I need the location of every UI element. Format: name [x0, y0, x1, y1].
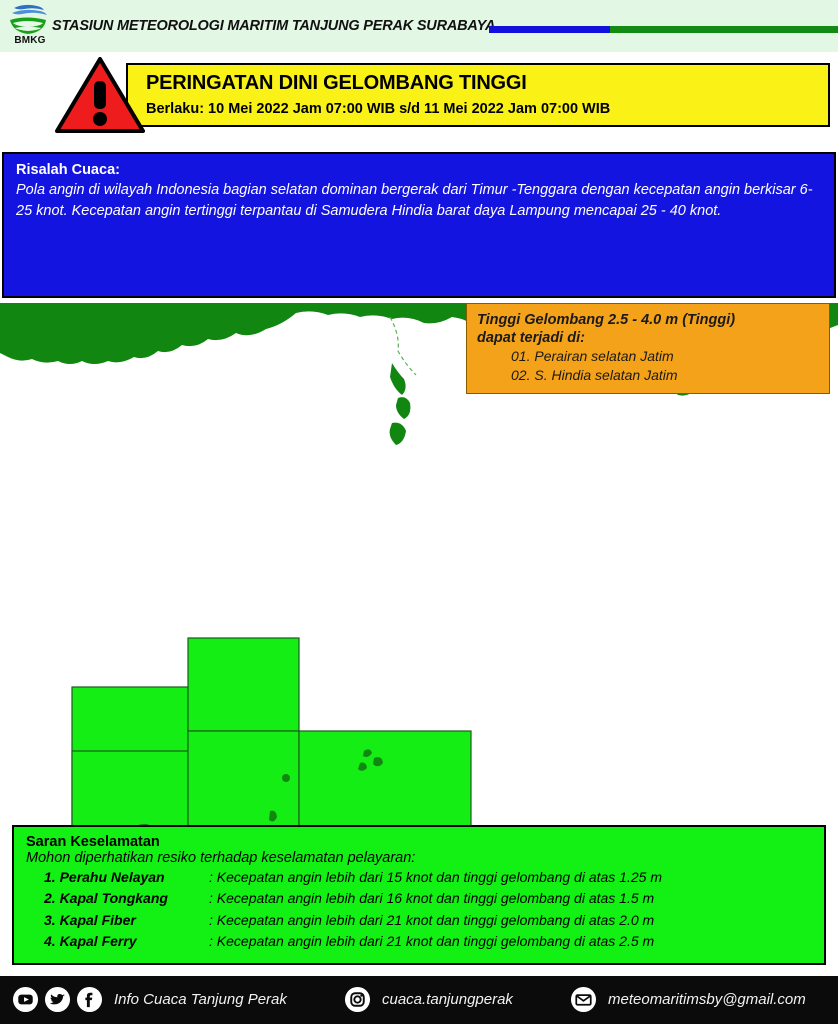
weather-summary-text: Pola angin di wilayah Indonesia bagian s… [16, 180, 822, 221]
footer-bar: Info Cuaca Tanjung Perak cuaca.tanjungpe… [0, 976, 838, 1024]
vessel-criteria: : Kecepatan angin lebih dari 15 knot dan… [209, 867, 662, 888]
legend-heading-line2: dapat terjadi di: [477, 329, 819, 347]
vessel-label: 1. Perahu Nelayan [44, 867, 209, 888]
weather-summary-heading: Risalah Cuaca: [16, 162, 822, 178]
vessel-criteria: : Kecepatan angin lebih dari 16 knot dan… [209, 888, 654, 909]
safety-advice-row: 1. Perahu Nelayan : Kecepatan angin lebi… [26, 867, 812, 888]
vessel-label: 3. Kapal Fiber [44, 910, 209, 931]
wave-height-legend: Tinggi Gelombang 2.5 - 4.0 m (Tinggi) da… [466, 303, 830, 394]
safety-advice-row: 4. Kapal Ferry : Kecepatan angin lebih d… [26, 931, 812, 952]
safety-advice-box: Saran Keselamatan Mohon diperhatikan res… [12, 825, 826, 965]
warning-banner: PERINGATAN DINI GELOMBANG TINGGI Berlaku… [126, 63, 830, 127]
instagram-icon[interactable] [344, 986, 371, 1013]
footer-instagram-handle: cuaca.tanjungperak [382, 991, 513, 1008]
legend-heading-line1: Tinggi Gelombang 2.5 - 4.0 m (Tinggi) [477, 311, 819, 329]
footer-email-group: meteomaritimsby@gmail.com [570, 986, 806, 1013]
legend-item-0: 01. Perairan selatan Jatim [511, 347, 819, 366]
warning-infographic: BMKG STASIUN METEOROLOGI MARITIM TANJUNG… [0, 0, 838, 1024]
vessel-label: 2. Kapal Tongkang [44, 888, 209, 909]
safety-advice-heading: Saran Keselamatan [26, 834, 812, 850]
safety-advice-row: 3. Kapal Fiber : Kecepatan angin lebih d… [26, 910, 812, 931]
bmkg-logo: BMKG [6, 2, 50, 50]
bmkg-logo-icon [6, 2, 50, 38]
vessel-criteria: : Kecepatan angin lebih dari 21 knot dan… [209, 931, 654, 952]
email-icon[interactable] [570, 986, 597, 1013]
footer-instagram-group: cuaca.tanjungperak [344, 986, 513, 1013]
header-accent-bar-blue [489, 26, 610, 33]
warning-title: PERINGATAN DINI GELOMBANG TINGGI [146, 72, 527, 95]
footer-social-handle: Info Cuaca Tanjung Perak [114, 991, 287, 1008]
warning-triangle-icon [55, 57, 145, 135]
vessel-label: 4. Kapal Ferry [44, 931, 209, 952]
safety-advice-subheading: Mohon diperhatikan resiko terhadap kesel… [26, 850, 812, 866]
footer-email: meteomaritimsby@gmail.com [608, 991, 806, 1008]
vessel-criteria: : Kecepatan angin lebih dari 21 knot dan… [209, 910, 654, 931]
header-accent-bar-green [610, 26, 838, 33]
header-title: STASIUN METEOROLOGI MARITIM TANJUNG PERA… [52, 18, 495, 34]
bmkg-logo-label: BMKG [8, 35, 52, 46]
weather-summary-box: Risalah Cuaca: Pola angin di wilayah Ind… [2, 152, 836, 298]
twitter-icon[interactable] [44, 986, 71, 1013]
footer-social-group: Info Cuaca Tanjung Perak [12, 986, 287, 1013]
youtube-icon[interactable] [12, 986, 39, 1013]
legend-item-1: 02. S. Hindia selatan Jatim [511, 366, 819, 385]
facebook-icon[interactable] [76, 986, 103, 1013]
header-bar: BMKG STASIUN METEOROLOGI MARITIM TANJUNG… [0, 0, 838, 52]
warning-validity: Berlaku: 10 Mei 2022 Jam 07:00 WIB s/d 1… [146, 101, 610, 117]
safety-advice-row: 2. Kapal Tongkang : Kecepatan angin lebi… [26, 888, 812, 909]
